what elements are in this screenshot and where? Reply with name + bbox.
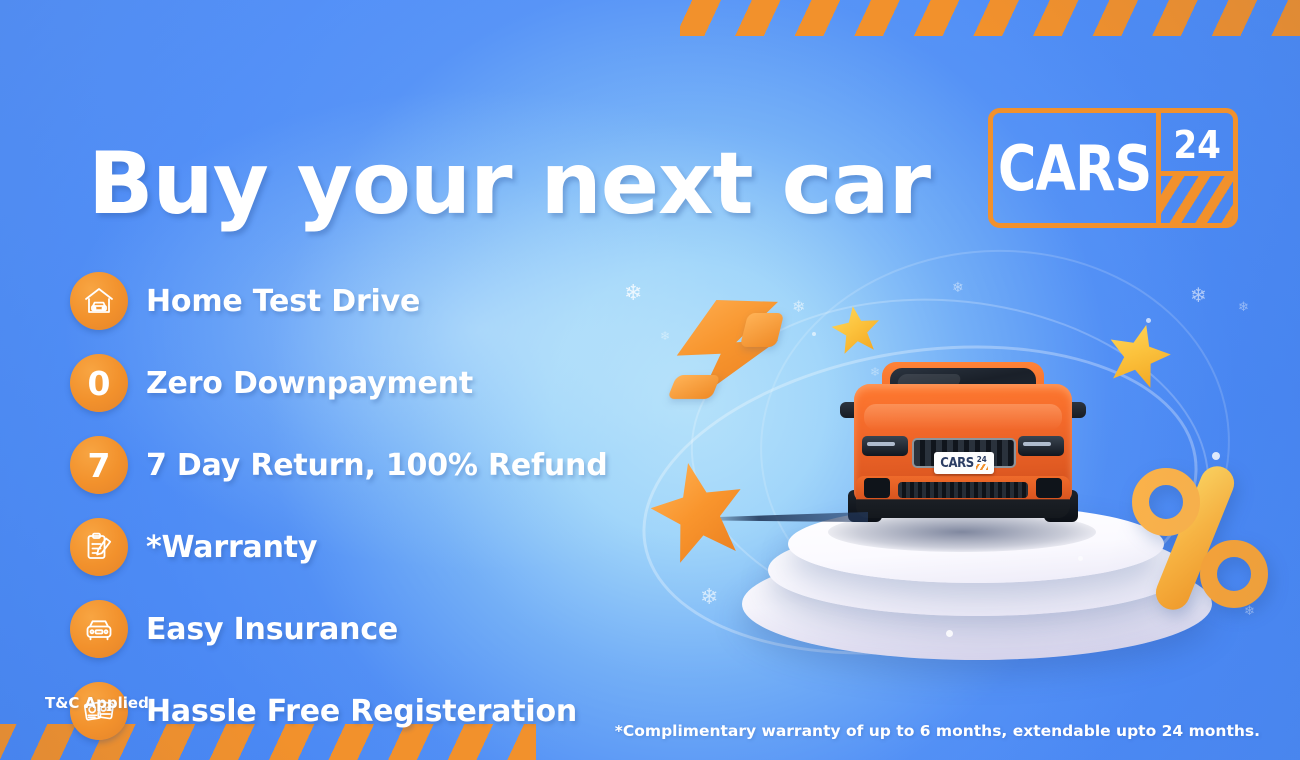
logo-cars-text: CARS: [998, 132, 1151, 205]
feature-label: Hassle Free Registeration: [146, 694, 577, 729]
badge-number: 0: [88, 367, 111, 400]
seven-badge-icon: 7: [70, 436, 128, 494]
feature-label: *Warranty: [146, 530, 317, 565]
logo-right-cell: 24: [1161, 113, 1233, 223]
logo-24-text: 24: [1161, 113, 1233, 171]
badge-number: 7: [88, 449, 111, 482]
feature-label: 7 Day Return, 100% Refund: [146, 448, 608, 483]
feature-label: Easy Insurance: [146, 612, 398, 647]
feature-item-easy-insurance[interactable]: Easy Insurance: [70, 600, 608, 658]
feature-item-zero-downpayment[interactable]: 0 Zero Downpayment: [70, 354, 608, 412]
page-title: Buy your next car: [88, 134, 930, 234]
feature-item-warranty[interactable]: *Warranty: [70, 518, 608, 576]
disclaimer-text: *Complimentary warranty of up to 6 month…: [615, 722, 1260, 740]
feature-item-hassle-free-registration[interactable]: Hassle Free Registeration: [70, 682, 608, 740]
advertisement-banner: CARS 24 ❄ ❄ ❄ ❄ ❄ ❄ ❄ ❄ ❄: [0, 0, 1300, 760]
cars24-logo[interactable]: CARS 24: [988, 108, 1238, 228]
clipboard-pen-icon: [70, 518, 128, 576]
logo-hatch-stripes-icon: [1161, 171, 1233, 223]
feature-label: Home Test Drive: [146, 284, 420, 319]
logo-cars-cell: CARS: [993, 113, 1161, 223]
feature-item-home-test-drive[interactable]: Home Test Drive: [70, 272, 608, 330]
zero-badge-icon: 0: [70, 354, 128, 412]
car-front-icon: [70, 600, 128, 658]
feature-item-seven-day-return[interactable]: 7 7 Day Return, 100% Refund: [70, 436, 608, 494]
feature-label: Zero Downpayment: [146, 366, 473, 401]
feature-list: Home Test Drive 0 Zero Downpayment 7 7 D…: [70, 272, 608, 740]
home-car-icon: [70, 272, 128, 330]
terms-conditions-text: T&C Applied: [45, 694, 149, 712]
